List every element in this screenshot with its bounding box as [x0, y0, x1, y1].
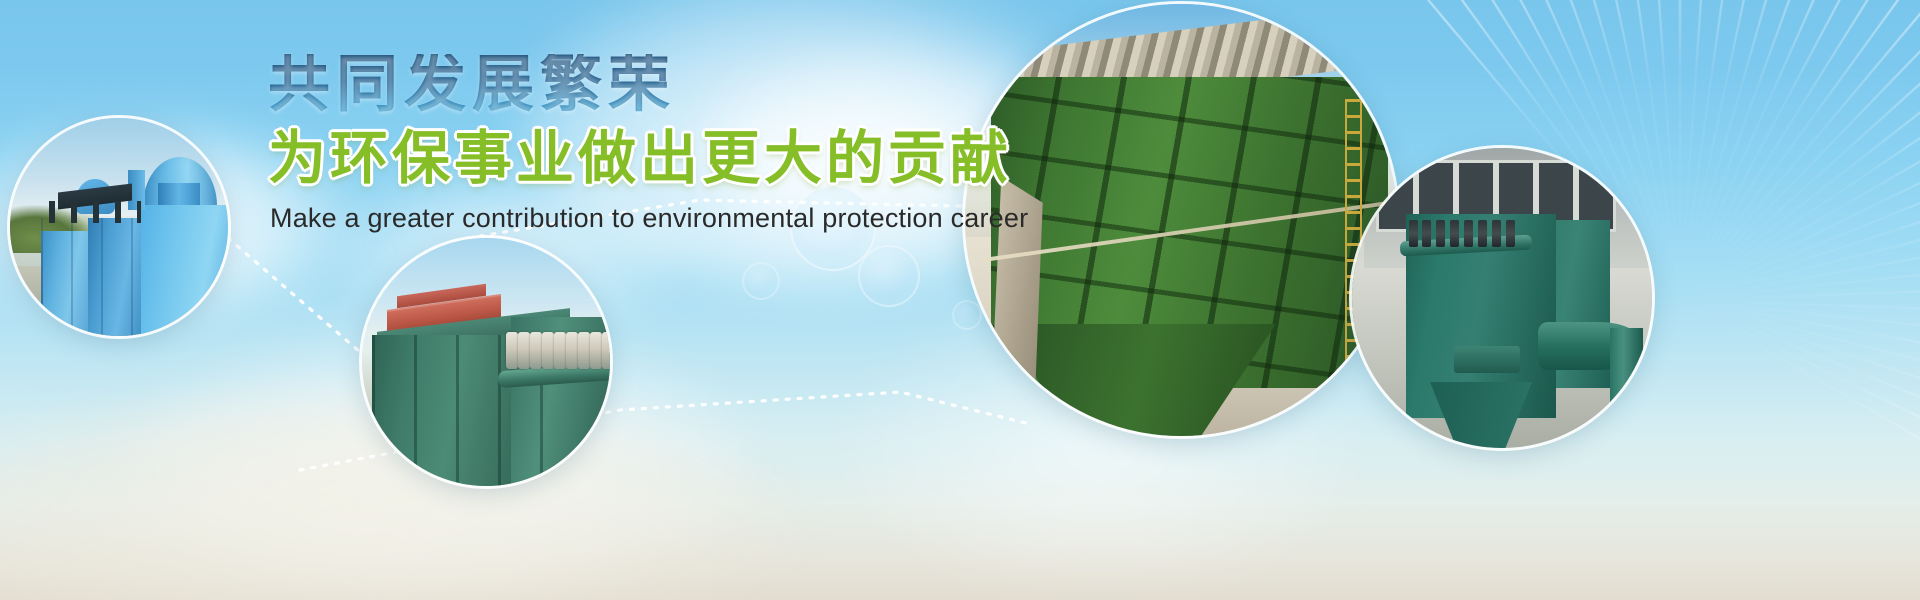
headline-primary-cn: 共同发展繁荣	[268, 54, 968, 116]
medallion-blue-dust-collector[interactable]	[10, 118, 228, 336]
lens-flare-icon	[742, 262, 780, 300]
medallion-green-dust-collector[interactable]	[362, 238, 610, 486]
lens-flare-icon	[858, 245, 920, 307]
green-baghouse-photo	[965, 4, 1397, 436]
headline-block: 共同发展繁荣 为环保事业做出更大的贡献 Make a greater contr…	[268, 54, 968, 234]
headline-subtitle-en: Make a greater contribution to environme…	[270, 204, 968, 234]
medallion-teal-dust-collector[interactable]	[1352, 148, 1652, 448]
medallion-green-baghouse[interactable]	[965, 4, 1397, 436]
hero-banner: 共同发展繁荣 为环保事业做出更大的贡献 Make a greater contr…	[0, 0, 1920, 600]
blue-dust-collector-photo	[10, 118, 228, 336]
headline-secondary-cn: 为环保事业做出更大的贡献	[268, 130, 968, 188]
teal-dust-collector-photo	[1352, 148, 1652, 448]
green-dust-collector-photo	[362, 238, 610, 486]
